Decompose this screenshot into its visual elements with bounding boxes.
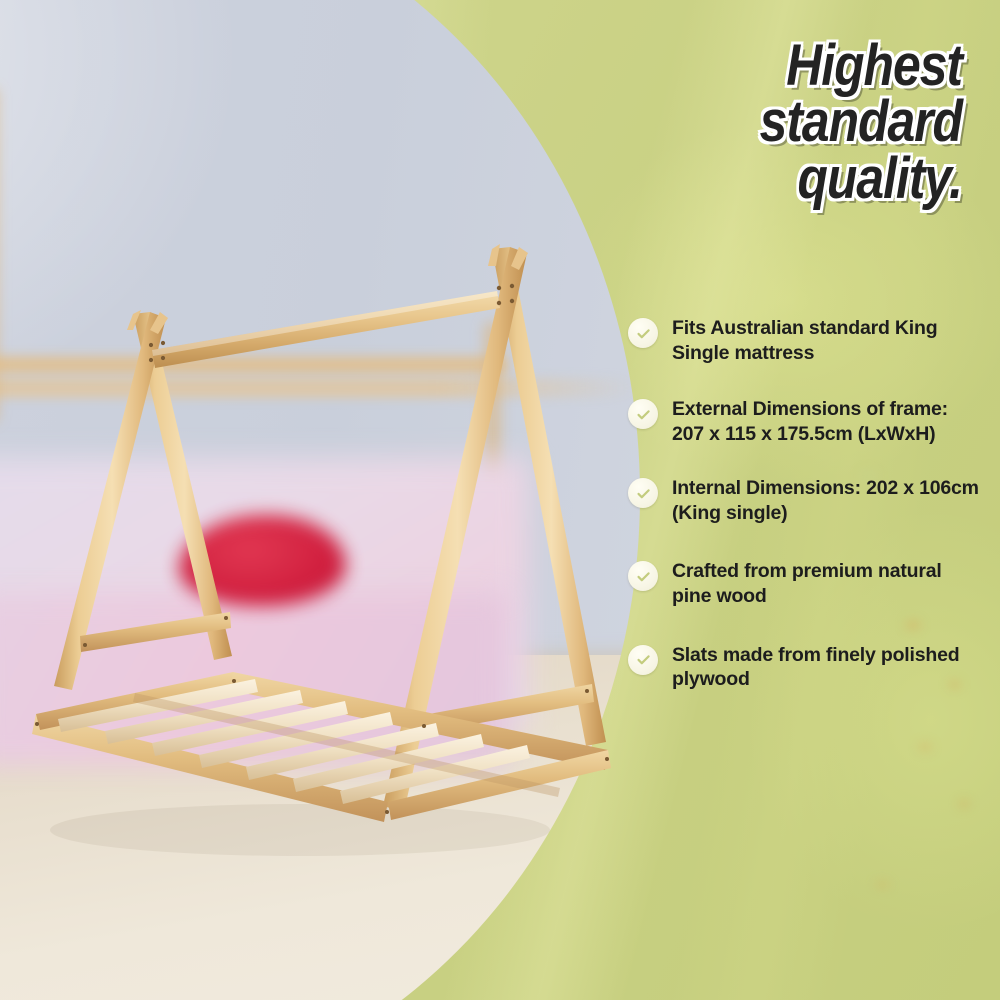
feature-text: Internal Dimensions: 202 x 106cm (King s…	[672, 476, 980, 525]
product-feature-banner: Highest standard quality. Fits Australia…	[0, 0, 1000, 1000]
feature-item: Internal Dimensions: 202 x 106cm (King s…	[628, 476, 980, 525]
feature-item: External Dimensions of frame: 207 x 115 …	[628, 397, 980, 446]
feature-item: Crafted from premium natural pine wood	[628, 559, 980, 608]
feature-item: Fits Australian standard King Single mat…	[628, 316, 980, 365]
feature-item: Slats made from finely polished plywood	[628, 643, 980, 692]
feature-text: Slats made from finely polished plywood	[672, 643, 980, 692]
check-circle-icon	[628, 399, 658, 429]
page-title-line-2: standard	[601, 94, 962, 150]
check-circle-icon	[628, 478, 658, 508]
feature-text: External Dimensions of frame: 207 x 115 …	[672, 397, 980, 446]
feature-list: Fits Australian standard King Single mat…	[628, 316, 980, 692]
check-circle-icon	[628, 318, 658, 348]
page-title-line-3: quality.	[601, 151, 962, 207]
page-title-line-1: Highest	[601, 38, 962, 94]
feature-text: Crafted from premium natural pine wood	[672, 559, 980, 608]
check-circle-icon	[628, 645, 658, 675]
page-title: Highest standard quality.	[601, 38, 962, 207]
check-circle-icon	[628, 561, 658, 591]
frame-shadow	[50, 804, 550, 856]
feature-text: Fits Australian standard King Single mat…	[672, 316, 980, 365]
